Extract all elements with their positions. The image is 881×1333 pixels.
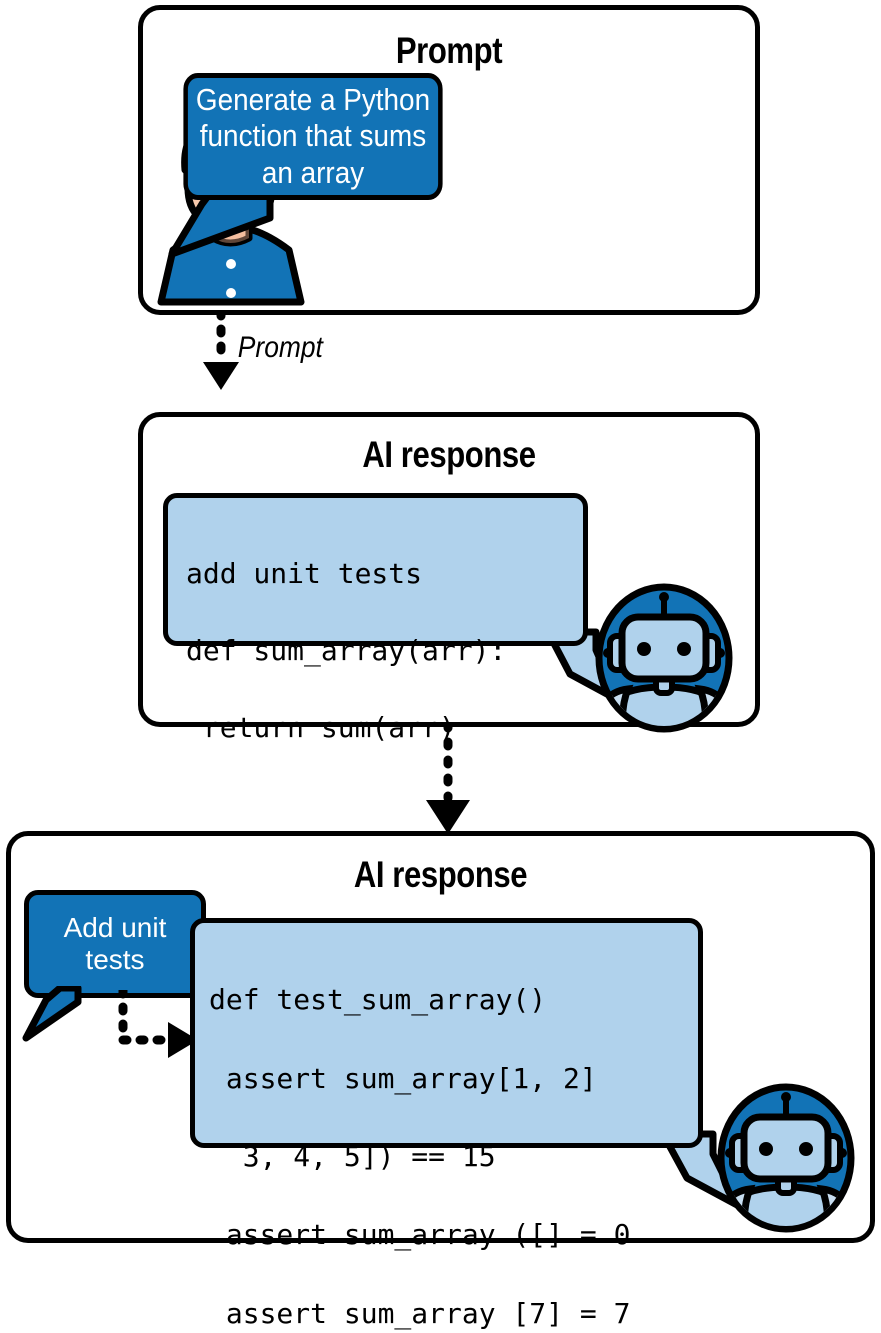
robot-avatar-icon: [594, 583, 734, 733]
page-title-ai-response-1: AI response: [192, 434, 706, 476]
add-unit-tests-text: Add unit tests: [35, 912, 195, 975]
code-line: def sum_array(arr):: [186, 634, 506, 667]
code-bubble-ai-response-2: def test_sum_array() assert sum_array[1,…: [190, 918, 703, 1148]
code-line: 3, 4, 5]) == 15: [209, 1140, 496, 1173]
code-line: return sum(arr): [186, 711, 456, 744]
connector-prompt-label: Prompt: [238, 331, 323, 365]
code-line: assert sum_array [7] = 7: [209, 1297, 630, 1330]
add-unit-tests-bubble: Add unit tests: [24, 890, 206, 998]
add-tests-bubble-tail: [16, 986, 82, 1042]
code-bubble-ai-response-1: add unit tests def sum_array(arr): retur…: [163, 493, 588, 646]
code-line: def test_sum_array(): [209, 983, 546, 1016]
code-line: assert sum_array[1, 2]: [209, 1062, 597, 1095]
code-line: assert sum_array ([] = 0: [209, 1218, 630, 1251]
robot-avatar-icon: [716, 1083, 856, 1233]
code-line: add unit tests: [186, 557, 422, 590]
prompt-bubble-text: Generate a Python function that sums an …: [195, 82, 431, 192]
page-title-prompt: Prompt: [192, 30, 706, 72]
connector-middle-arrow: [418, 724, 478, 836]
prompt-speech-bubble: Generate a Python function that sums an …: [183, 73, 442, 200]
